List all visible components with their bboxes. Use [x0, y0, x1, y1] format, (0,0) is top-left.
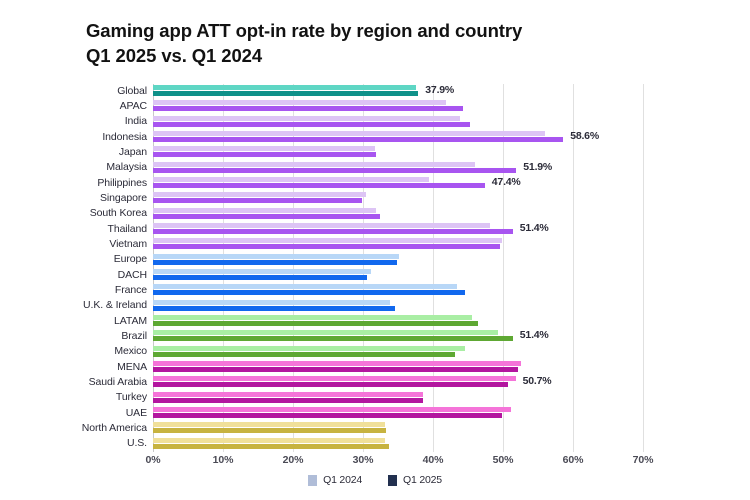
- bar-row: [153, 314, 650, 329]
- legend-label: Q1 2024: [323, 474, 362, 486]
- bar-row: 51.4%: [153, 329, 650, 344]
- bar-2025: [153, 306, 395, 311]
- bar-2024: [153, 376, 516, 381]
- bar-row: [153, 299, 650, 314]
- bar-row: [153, 406, 650, 421]
- bar-data-label: 50.7%: [523, 375, 552, 387]
- y-axis-label-brazil: Brazil: [0, 330, 147, 342]
- bar-row: [153, 253, 650, 268]
- y-axis-label-mexico: Mexico: [0, 345, 147, 357]
- bar-row: [153, 283, 650, 298]
- bar-2025: [153, 137, 563, 142]
- bar-row: [153, 99, 650, 114]
- bar-rows: 37.9%58.6%51.9%47.4%51.4%51.4%50.7%: [153, 84, 650, 452]
- y-axis-label-vietnam: Vietnam: [0, 238, 147, 250]
- bar-row: 51.4%: [153, 222, 650, 237]
- chart-title-line-1: Gaming app ATT opt-in rate by region and…: [86, 18, 686, 43]
- bar-2024: [153, 284, 457, 289]
- bar-row: [153, 207, 650, 222]
- bar-2024: [153, 407, 511, 412]
- bar-2025: [153, 214, 380, 219]
- bar-2025: [153, 244, 500, 249]
- y-axis-label-apac: APAC: [0, 100, 147, 112]
- y-axis-label-global: Global: [0, 85, 147, 97]
- bar-2025: [153, 229, 513, 234]
- y-axis-label-europe: Europe: [0, 253, 147, 265]
- bar-row: 51.9%: [153, 161, 650, 176]
- y-axis-label-mena: MENA: [0, 361, 147, 373]
- chart-title: Gaming app ATT opt-in rate by region and…: [86, 18, 686, 68]
- bar-row: [153, 437, 650, 452]
- bar-2024: [153, 330, 498, 335]
- legend-item-q1-2025[interactable]: Q1 2025: [388, 474, 442, 486]
- bar-row: 47.4%: [153, 176, 650, 191]
- bar-2025: [153, 168, 516, 173]
- y-axis-label-turkey: Turkey: [0, 391, 147, 403]
- x-axis-tick-10: 10%: [213, 454, 234, 466]
- bar-row: [153, 360, 650, 375]
- x-axis-tick-30: 30%: [353, 454, 374, 466]
- bar-row: [153, 191, 650, 206]
- bar-2025: [153, 444, 389, 449]
- chart-container: Gaming app ATT opt-in rate by region and…: [0, 0, 750, 500]
- bar-2024: [153, 238, 502, 243]
- bar-2025: [153, 91, 418, 96]
- y-axis-label-indonesia: Indonesia: [0, 131, 147, 143]
- bar-2025: [153, 290, 465, 295]
- bar-2024: [153, 269, 371, 274]
- bar-data-label: 58.6%: [570, 130, 599, 142]
- y-axis-label-u-k-ireland: U.K. & Ireland: [0, 299, 147, 311]
- bar-2024: [153, 254, 399, 259]
- bar-2024: [153, 392, 423, 397]
- y-axis-label-india: India: [0, 115, 147, 127]
- bar-2024: [153, 177, 429, 182]
- bar-2024: [153, 223, 490, 228]
- legend-swatch-icon: [388, 475, 397, 486]
- bar-data-label: 51.9%: [523, 161, 552, 173]
- bar-2024: [153, 361, 521, 366]
- bar-row: [153, 268, 650, 283]
- bar-row: [153, 391, 650, 406]
- bar-2024: [153, 438, 385, 443]
- y-axis-label-singapore: Singapore: [0, 192, 147, 204]
- bar-2025: [153, 398, 423, 403]
- y-axis-label-malaysia: Malaysia: [0, 161, 147, 173]
- legend-swatch-icon: [308, 475, 317, 486]
- y-axis-label-latam: LATAM: [0, 315, 147, 327]
- x-axis-tick-20: 20%: [283, 454, 304, 466]
- bar-row: 37.9%: [153, 84, 650, 99]
- y-axis-label-thailand: Thailand: [0, 223, 147, 235]
- bar-row: [153, 237, 650, 252]
- y-axis-label-france: France: [0, 284, 147, 296]
- bar-2025: [153, 122, 470, 127]
- x-axis-tick-40: 40%: [423, 454, 444, 466]
- bar-2025: [153, 336, 513, 341]
- x-axis-tick-70: 70%: [633, 454, 654, 466]
- x-axis-tick-50: 50%: [493, 454, 514, 466]
- bar-row: [153, 145, 650, 160]
- x-axis-tick-0: 0%: [146, 454, 161, 466]
- y-axis-label-saudi-arabia: Saudi Arabia: [0, 376, 147, 388]
- bar-2024: [153, 85, 416, 90]
- y-axis-label-uae: UAE: [0, 407, 147, 419]
- bar-2024: [153, 116, 460, 121]
- bar-2025: [153, 428, 386, 433]
- legend-item-q1-2024[interactable]: Q1 2024: [308, 474, 362, 486]
- bar-row: 58.6%: [153, 130, 650, 145]
- chart-title-line-2: Q1 2025 vs. Q1 2024: [86, 43, 686, 68]
- bar-data-label: 51.4%: [520, 329, 549, 341]
- y-axis-label-philippines: Philippines: [0, 177, 147, 189]
- bar-2024: [153, 162, 475, 167]
- bar-2024: [153, 346, 465, 351]
- legend-label: Q1 2025: [403, 474, 442, 486]
- x-axis-tick-60: 60%: [563, 454, 584, 466]
- bar-data-label: 47.4%: [492, 176, 521, 188]
- bar-2025: [153, 367, 518, 372]
- bar-2025: [153, 382, 508, 387]
- bar-2024: [153, 315, 472, 320]
- chart-legend: Q1 2024Q1 2025: [0, 474, 750, 486]
- bar-2024: [153, 300, 390, 305]
- y-axis-label-south-korea: South Korea: [0, 207, 147, 219]
- bar-2024: [153, 208, 376, 213]
- bar-row: [153, 421, 650, 436]
- x-axis: 0%10%20%30%40%50%60%70%: [153, 452, 650, 472]
- bar-2025: [153, 183, 485, 188]
- bar-data-label: 37.9%: [425, 84, 454, 96]
- bar-row: [153, 115, 650, 130]
- bar-2024: [153, 131, 545, 136]
- bar-2025: [153, 321, 478, 326]
- bar-2024: [153, 100, 446, 105]
- y-axis-label-japan: Japan: [0, 146, 147, 158]
- bar-2025: [153, 275, 367, 280]
- bar-row: [153, 345, 650, 360]
- y-axis-label-north-america: North America: [0, 422, 147, 434]
- bar-2025: [153, 106, 463, 111]
- plot-area: 37.9%58.6%51.9%47.4%51.4%51.4%50.7%: [153, 84, 650, 452]
- bar-2024: [153, 422, 385, 427]
- bar-2025: [153, 152, 376, 157]
- bar-2025: [153, 198, 362, 203]
- bar-row: 50.7%: [153, 375, 650, 390]
- y-axis-labels: GlobalAPACIndiaIndonesiaJapanMalaysiaPhi…: [0, 84, 147, 452]
- bar-2025: [153, 260, 397, 265]
- bar-2024: [153, 146, 375, 151]
- y-axis-label-u-s: U.S.: [0, 437, 147, 449]
- bar-2024: [153, 192, 366, 197]
- bar-2025: [153, 413, 502, 418]
- bar-data-label: 51.4%: [520, 222, 549, 234]
- y-axis-label-dach: DACH: [0, 269, 147, 281]
- bar-2025: [153, 352, 455, 357]
